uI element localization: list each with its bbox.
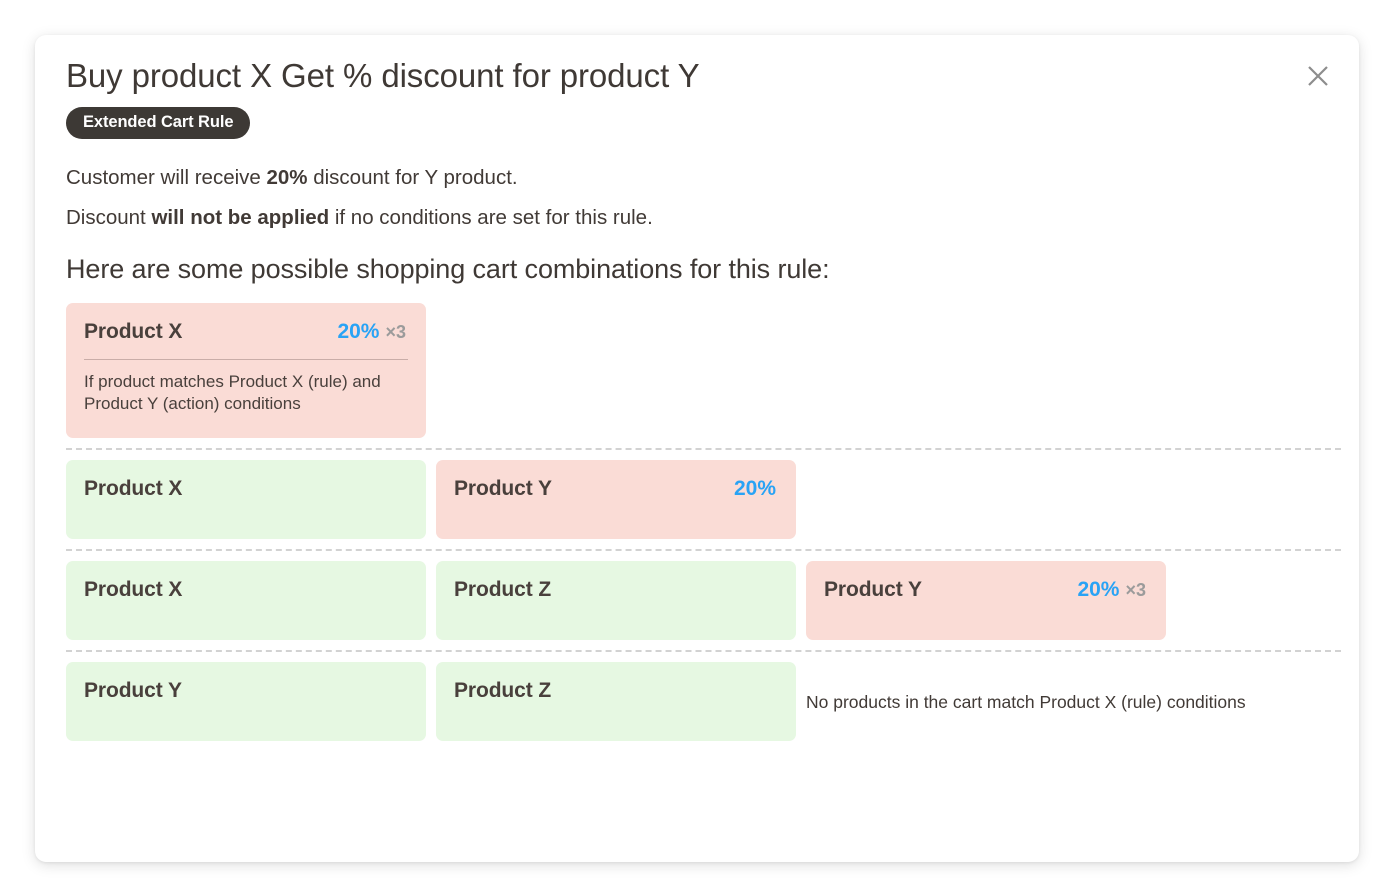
discount-description-part1: Customer will receive: [66, 166, 267, 189]
product-card[interactable]: Product Y 20%: [436, 460, 796, 539]
product-card-header: Product Z: [454, 578, 778, 602]
conditions-warning-part2: if no conditions are set for this rule.: [329, 206, 653, 229]
product-card[interactable]: Product X: [66, 561, 426, 640]
product-card[interactable]: Product X: [66, 460, 426, 539]
product-card-label: Product X: [84, 320, 182, 344]
product-card-header: Product X 20% ×3: [84, 320, 408, 344]
page-title: Buy product X Get % discount for product…: [66, 56, 1337, 96]
card-divider: [84, 359, 408, 360]
modal-body: Buy product X Get % discount for product…: [66, 56, 1337, 741]
product-card-header: Product Y 20%: [454, 477, 778, 501]
product-card[interactable]: Product Y: [66, 662, 426, 741]
product-card-label: Product Y: [84, 679, 182, 703]
combination-row-note: No products in the cart match Product X …: [806, 662, 1341, 714]
discount-percent: 20%: [734, 477, 776, 501]
status-badge: Extended Cart Rule: [66, 107, 250, 139]
quantity-multiplier: ×3: [1125, 580, 1146, 601]
combinations-subheading: Here are some possible shopping cart com…: [66, 254, 1337, 285]
product-card[interactable]: Product Y 20% ×3: [806, 561, 1166, 640]
product-card-label: Product Z: [454, 578, 551, 602]
discount-description-part2: discount for Y product.: [308, 166, 518, 189]
product-card-label: Product X: [84, 578, 182, 602]
conditions-warning: Discount will not be applied if no condi…: [66, 204, 1337, 232]
product-card-label: Product X: [84, 477, 182, 501]
product-card[interactable]: Product Z: [436, 662, 796, 741]
product-card[interactable]: Product X 20% ×3 If product matches Prod…: [66, 303, 426, 438]
product-card-label: Product Z: [454, 679, 551, 703]
product-card-header: Product Y 20% ×3: [824, 578, 1148, 602]
product-card-header: Product Y: [84, 679, 408, 703]
product-card-header: Product X: [84, 477, 408, 501]
product-card[interactable]: Product Z: [436, 561, 796, 640]
combination-row: Product Y Product Z No products in the c…: [66, 662, 1341, 741]
product-card-label: Product Y: [454, 477, 552, 501]
cart-combinations-list: Product X 20% ×3 If product matches Prod…: [66, 303, 1341, 741]
discount-description: Customer will receive 20% discount for Y…: [66, 164, 1337, 192]
discount-percent: 20%: [337, 320, 379, 344]
quantity-multiplier: ×3: [385, 322, 406, 343]
discount-percent-inline: 20%: [267, 166, 308, 189]
combination-row: Product X 20% ×3 If product matches Prod…: [66, 303, 1341, 450]
discount-percent: 20%: [1077, 578, 1119, 602]
product-card-note: If product matches Product X (rule) and …: [84, 371, 408, 416]
conditions-warning-part1: Discount: [66, 206, 151, 229]
rule-info-modal: Buy product X Get % discount for product…: [35, 35, 1359, 862]
conditions-warning-emphasis: will not be applied: [151, 206, 329, 229]
product-card-meta: 20% ×3: [1077, 578, 1148, 602]
combination-row: Product X Product Y 20%: [66, 460, 1341, 551]
product-card-meta: 20%: [734, 477, 778, 501]
combination-row: Product X Product Z Product Y 20% ×3: [66, 561, 1341, 652]
product-card-header: Product X: [84, 578, 408, 602]
product-card-header: Product Z: [454, 679, 778, 703]
product-card-meta: 20% ×3: [337, 320, 408, 344]
product-card-label: Product Y: [824, 578, 922, 602]
